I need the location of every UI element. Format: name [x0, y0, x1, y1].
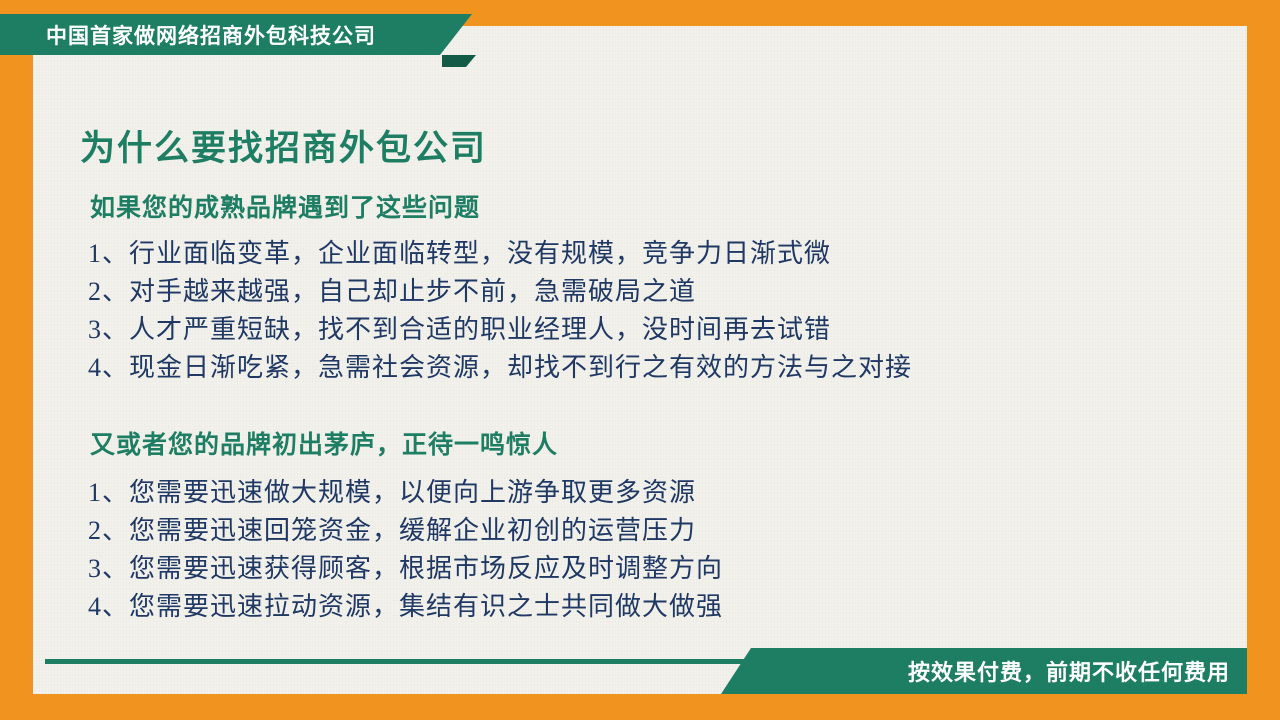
section-heading-1: 如果您的成熟品牌遇到了这些问题	[90, 188, 480, 224]
header-ribbon-text: 中国首家做网络招商外包科技公司	[46, 20, 376, 50]
header-ribbon: 中国首家做网络招商外包科技公司	[0, 14, 472, 55]
list-item: 1、您需要迅速做大规模，以便向上游争取更多资源	[88, 474, 723, 512]
section-1-list: 1、行业面临变革，企业面临转型，没有规模，竞争力日渐式微 2、对手越来越强，自己…	[88, 235, 912, 387]
list-item: 3、您需要迅速获得顾客，根据市场反应及时调整方向	[88, 550, 723, 588]
footer-text: 按效果付费，前期不收任何费用	[908, 655, 1230, 687]
list-item: 4、现金日渐吃紧，急需社会资源，却找不到行之有效的方法与之对接	[88, 349, 912, 387]
list-item: 3、人才严重短缺，找不到合适的职业经理人，没时间再去试错	[88, 311, 912, 349]
footer-underline	[45, 659, 745, 664]
list-item: 4、您需要迅速拉动资源，集结有识之士共同做大做强	[88, 588, 723, 626]
page-title: 为什么要找招商外包公司	[80, 120, 487, 171]
section-heading-2: 又或者您的品牌初出茅庐，正待一鸣惊人	[90, 425, 558, 461]
list-item: 2、对手越来越强，自己却止步不前，急需破局之道	[88, 273, 912, 311]
section-2-list: 1、您需要迅速做大规模，以便向上游争取更多资源 2、您需要迅速回笼资金，缓解企业…	[88, 474, 723, 626]
slide-root: 中国首家做网络招商外包科技公司 为什么要找招商外包公司 如果您的成熟品牌遇到了这…	[0, 0, 1280, 720]
list-item: 1、行业面临变革，企业面临转型，没有规模，竞争力日渐式微	[88, 235, 912, 273]
list-item: 2、您需要迅速回笼资金，缓解企业初创的运营压力	[88, 512, 723, 550]
